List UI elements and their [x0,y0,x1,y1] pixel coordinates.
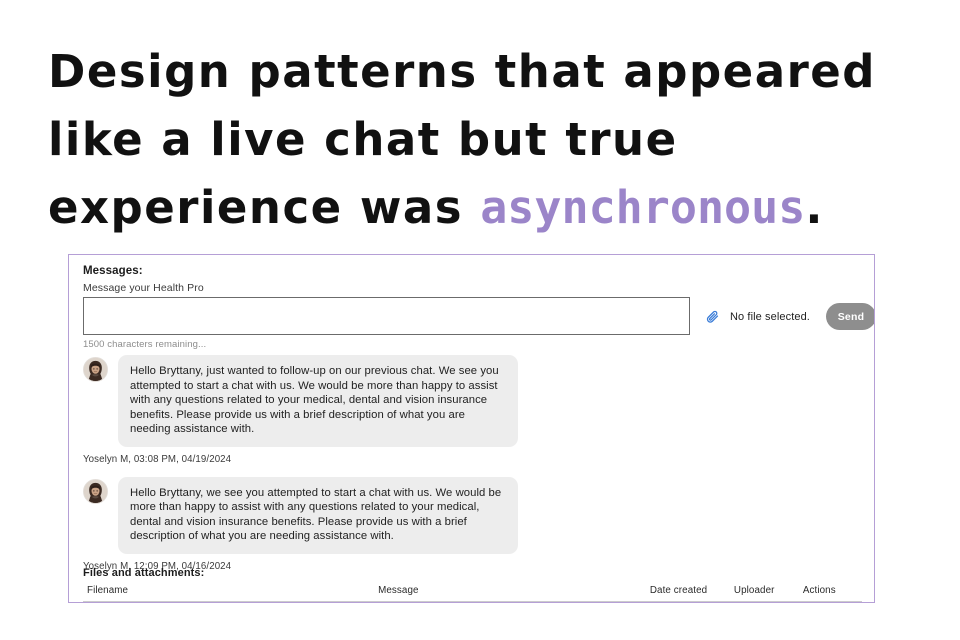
message-input[interactable] [83,297,690,335]
column-header-message[interactable]: Message [378,585,650,602]
files-table: Filename Message Date created Uploader A… [83,585,862,602]
headline-line-3-suffix: . [805,181,824,234]
column-header-filename[interactable]: Filename [83,585,378,602]
message-bubble: Hello Bryttany, just wanted to follow-up… [118,355,518,447]
messages-subheading: Message your Health Pro [83,282,204,294]
headline-line-2: like a live chat but true [48,113,678,166]
column-header-date-created[interactable]: Date created [650,585,734,602]
characters-remaining-text: 1500 characters remaining... [83,339,206,350]
message-item: Hello Bryttany, we see you attempted to … [69,477,874,572]
avatar [83,357,108,382]
page-headline: Design patterns that appeared like a liv… [48,38,928,242]
headline-line-1: Design patterns that appeared [48,45,876,98]
message-timestamp: Yoselyn M, 03:08 PM, 04/19/2024 [83,454,874,465]
column-header-actions[interactable]: Actions [803,585,862,602]
message-thread: Hello Bryttany, just wanted to follow-up… [69,355,874,572]
send-button[interactable]: Send [826,303,875,330]
message-item: Hello Bryttany, just wanted to follow-up… [69,355,874,465]
attachment-status-text: No file selected. [730,311,810,323]
message-bubble: Hello Bryttany, we see you attempted to … [118,477,518,554]
avatar [83,479,108,504]
messages-panel: Messages: Message your Health Pro 1500 c… [68,254,875,603]
headline-line-3-prefix: experience was [48,181,480,234]
attachment-row: No file selected. Send [705,303,875,330]
headline-accent-word: asynchronous [480,181,805,234]
column-header-uploader[interactable]: Uploader [734,585,803,602]
files-table-header-row: Filename Message Date created Uploader A… [83,585,862,602]
paperclip-icon[interactable] [705,309,720,325]
messages-heading: Messages: [83,265,143,277]
files-heading: Files and attachments: [83,567,204,579]
